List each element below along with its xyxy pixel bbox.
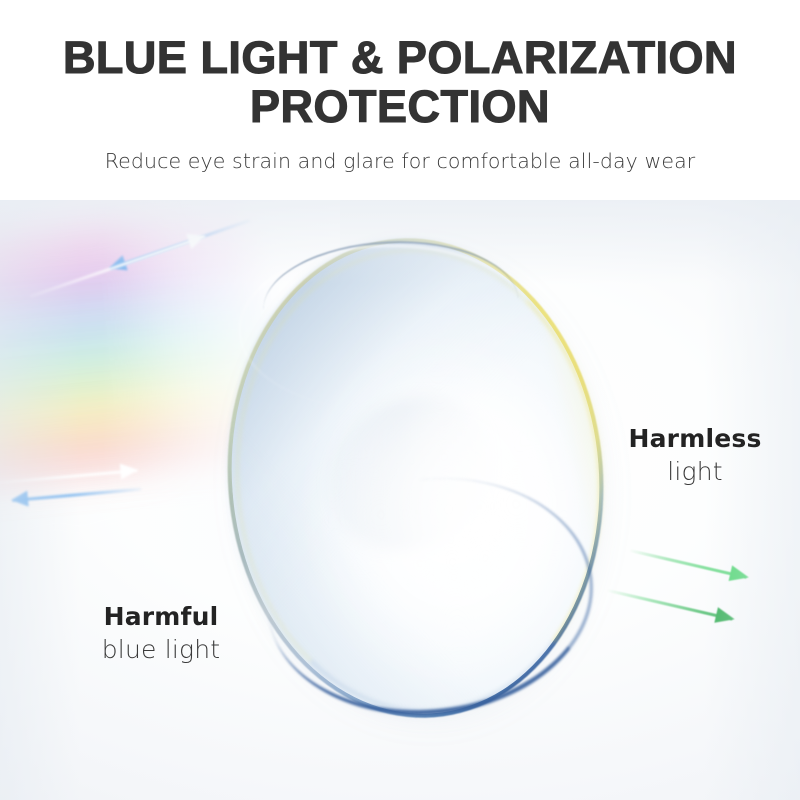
page-subtitle: Reduce eye strain and glare for comforta… <box>105 149 696 173</box>
callout-harmless-light: Harmless light <box>600 424 790 486</box>
arrow-head-right <box>714 607 736 627</box>
page-title: BLUE LIGHT & POLARIZATION PROTECTION <box>15 33 785 131</box>
callout-harmless-subtitle: light <box>600 457 790 487</box>
callout-harmful-blue-light: Harmful blue light <box>56 602 266 664</box>
arrow-head-right <box>729 565 751 585</box>
callout-harmless-title: Harmless <box>600 424 790 454</box>
arrow-head-right <box>120 462 139 480</box>
lens-graphic <box>210 224 622 732</box>
arrow-head-left <box>10 491 28 508</box>
spectrum-band-secondary <box>0 201 172 507</box>
callout-harmful-title: Harmful <box>56 602 266 632</box>
product-feature-banner: BLUE LIGHT & POLARIZATION PROTECTION Red… <box>0 0 800 800</box>
product-illustration <box>0 200 800 800</box>
callout-harmful-subtitle: blue light <box>56 635 266 665</box>
header-section: BLUE LIGHT & POLARIZATION PROTECTION Red… <box>0 0 800 200</box>
green-ray-arrow-upper <box>630 550 747 577</box>
arrow-shaft <box>608 589 733 621</box>
green-ray-arrow-lower <box>608 590 733 619</box>
